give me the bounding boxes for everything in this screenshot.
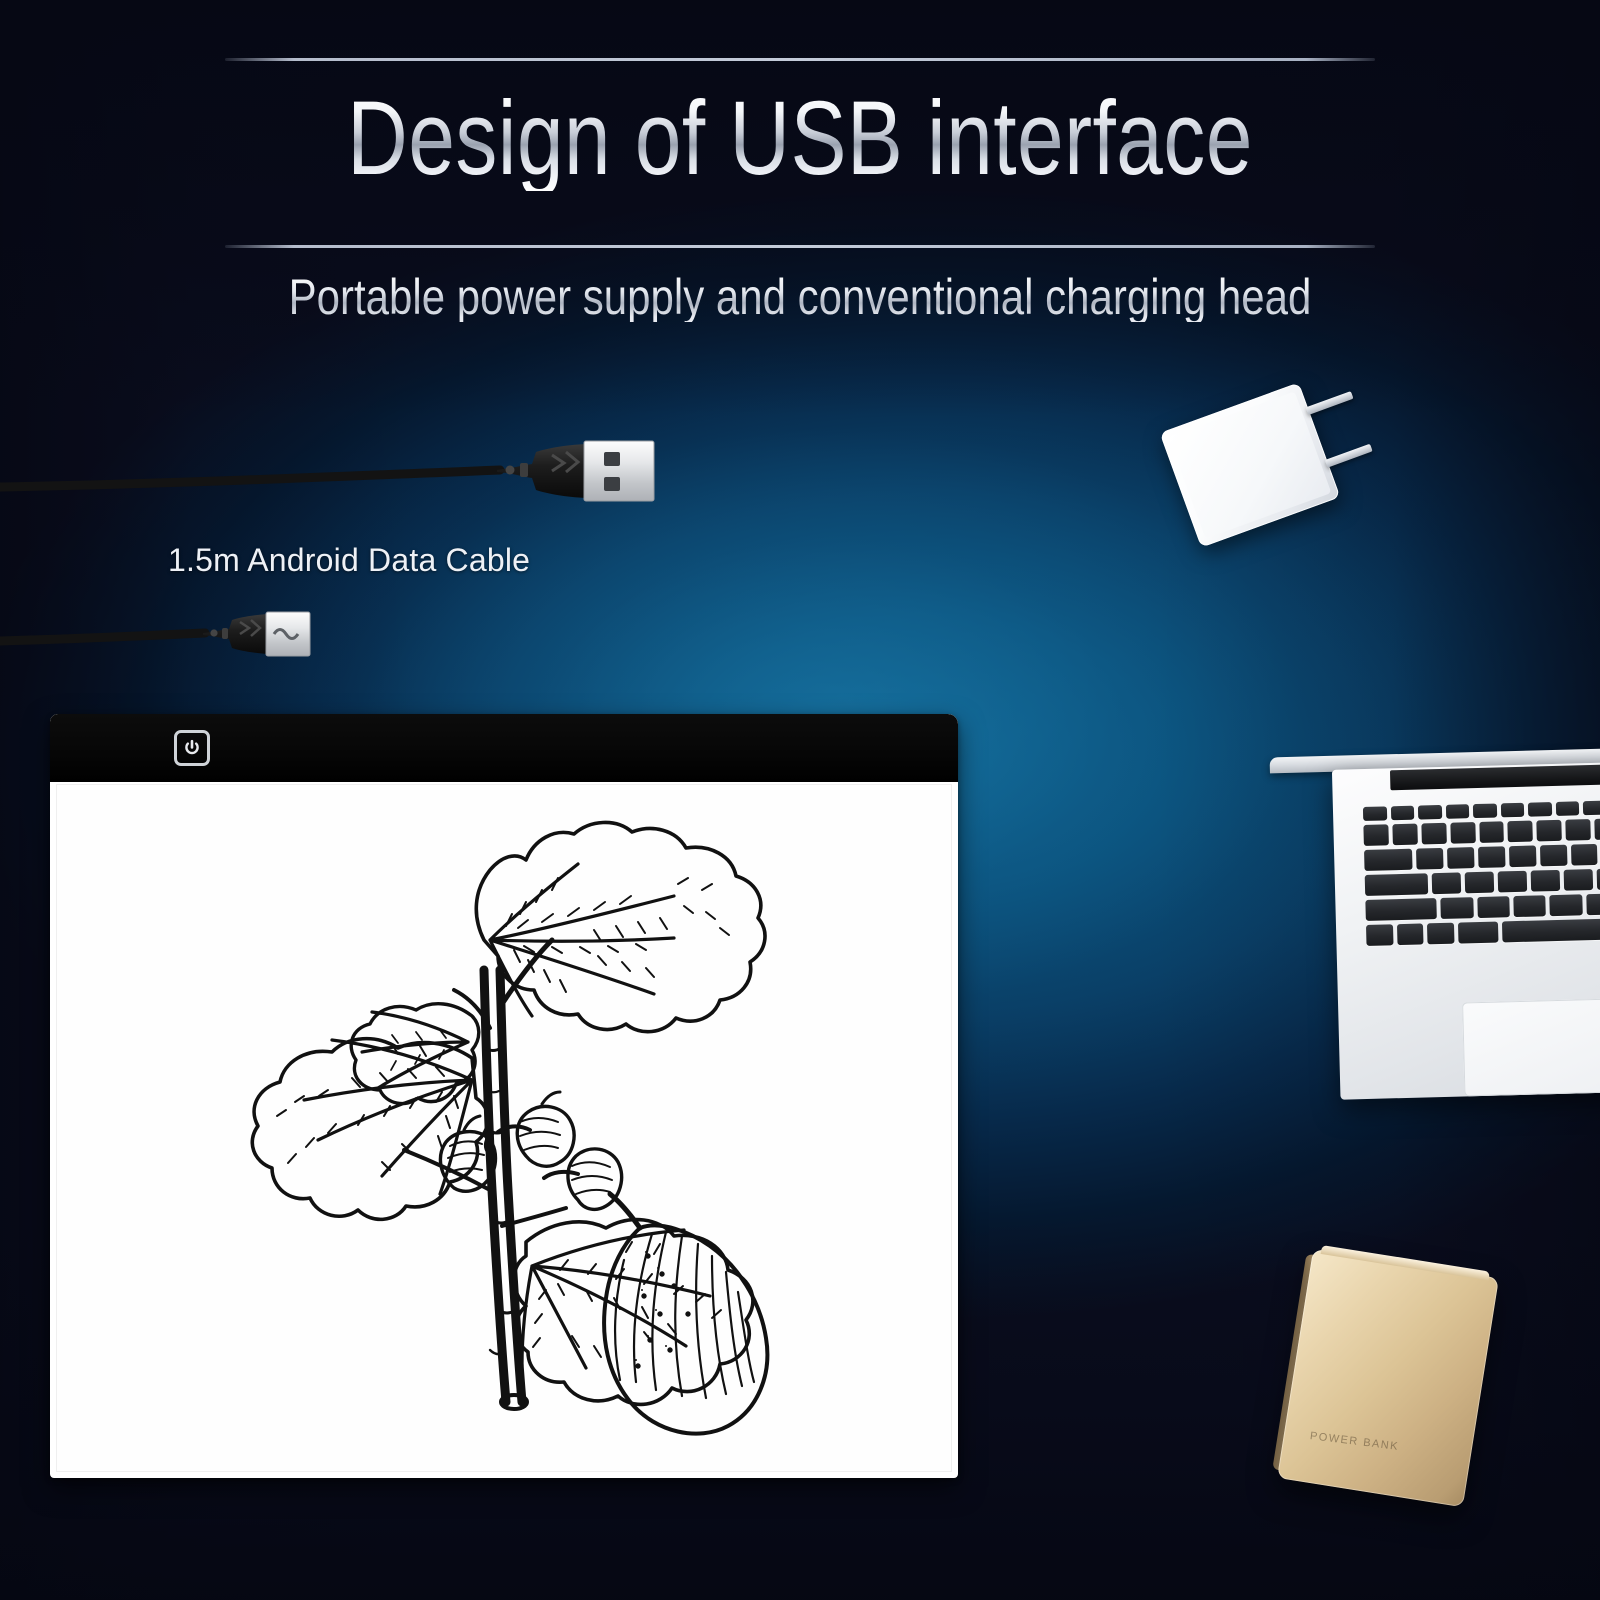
key	[1447, 847, 1474, 869]
light-pad-bezel	[50, 714, 958, 782]
key	[1586, 893, 1600, 915]
key	[1550, 894, 1583, 916]
keyboard-row	[1365, 891, 1600, 921]
page-title: Design of USB interface	[160, 86, 1440, 191]
key	[1365, 898, 1437, 921]
key	[1477, 896, 1510, 918]
key	[1540, 845, 1567, 867]
keyboard-row	[1365, 866, 1600, 896]
key	[1478, 846, 1505, 868]
key	[1441, 897, 1474, 919]
cable-label: 1.5m Android Data Cable	[168, 542, 530, 579]
silver-laptop[interactable]	[1260, 746, 1600, 1101]
key	[1450, 822, 1475, 844]
power-icon[interactable]	[174, 730, 210, 766]
light-pad-panel	[56, 784, 952, 1472]
key	[1363, 806, 1387, 821]
key	[1432, 872, 1461, 894]
keyboard-row	[1363, 816, 1600, 846]
key	[1555, 801, 1579, 816]
space-key	[1502, 918, 1600, 943]
divider-line-bottom	[225, 245, 1375, 248]
key	[1421, 823, 1446, 845]
key	[1513, 895, 1546, 917]
led-tracing-light-pad[interactable]	[50, 714, 958, 1478]
key	[1364, 849, 1413, 871]
keyboard-row	[1366, 916, 1600, 946]
laptop-trackpad[interactable]	[1462, 998, 1600, 1096]
key	[1508, 821, 1533, 843]
gold-power-bank[interactable]: POWER BANK	[1277, 1249, 1499, 1508]
key	[1473, 804, 1497, 819]
fig-branch-ink-illustration	[154, 790, 854, 1470]
key	[1571, 844, 1598, 866]
page-subtitle: Portable power supply and conventional c…	[128, 272, 1472, 322]
key	[1365, 873, 1429, 896]
key	[1363, 824, 1388, 846]
divider-line-top	[225, 58, 1375, 61]
key	[1563, 869, 1592, 891]
keyboard-row	[1364, 841, 1600, 871]
key	[1509, 845, 1536, 867]
key	[1498, 871, 1527, 893]
key	[1427, 923, 1454, 945]
key	[1458, 922, 1498, 944]
key	[1594, 818, 1600, 840]
power-bank-body: POWER BANK	[1277, 1249, 1499, 1508]
key	[1390, 806, 1414, 821]
key	[1565, 819, 1590, 841]
key	[1445, 804, 1469, 819]
key	[1397, 923, 1424, 945]
key	[1500, 803, 1524, 818]
key	[1596, 868, 1600, 890]
key	[1479, 821, 1504, 843]
key	[1416, 848, 1443, 870]
laptop-keyboard	[1363, 798, 1600, 980]
key	[1392, 824, 1417, 846]
key	[1528, 802, 1552, 817]
key	[1583, 801, 1600, 816]
product-marketing-image: Design of USB interface Portable power s…	[0, 0, 1600, 1600]
key	[1418, 805, 1442, 820]
light-pad-footer-text	[116, 1458, 916, 1472]
key	[1465, 872, 1494, 894]
key	[1531, 870, 1560, 892]
key	[1366, 924, 1393, 946]
key	[1537, 820, 1562, 842]
power-bank-logo: POWER BANK	[1309, 1430, 1399, 1453]
